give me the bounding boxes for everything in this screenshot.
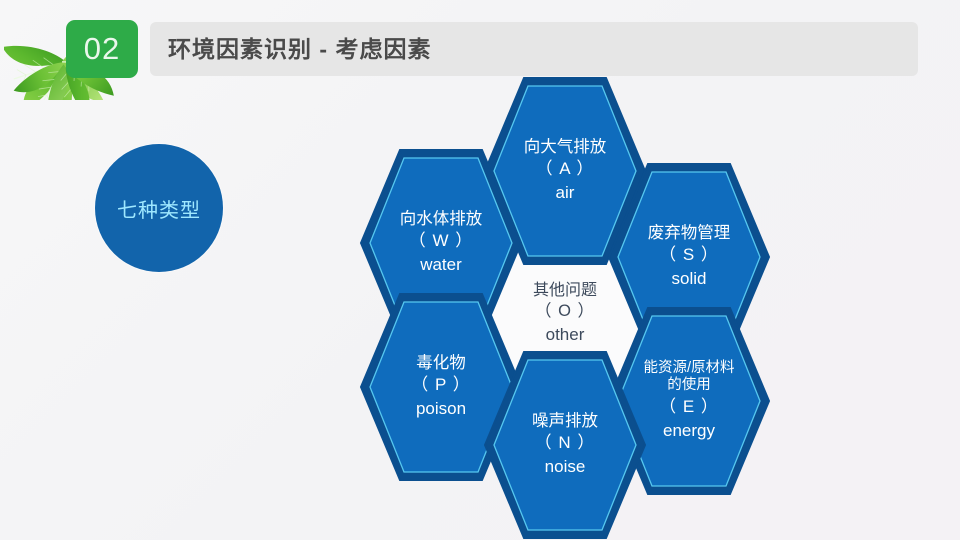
- section-number-badge: 02: [66, 20, 138, 78]
- slide-header: 02 环境因素识别 - 考虑因素: [0, 0, 960, 100]
- section-number: 02: [84, 31, 120, 67]
- seven-types-label: 七种类型: [117, 194, 201, 223]
- seven-types-circle: 七种类型: [95, 144, 223, 272]
- honeycomb-diagram: 其他问题 （ O ） other 向大气排放 （ A ） air 向水体排放 （…: [330, 88, 810, 540]
- page-title: 环境因素识别 - 考虑因素: [168, 22, 431, 76]
- hex-cell-noise[interactable]: 噪声排放 （ N ） noise: [483, 350, 647, 540]
